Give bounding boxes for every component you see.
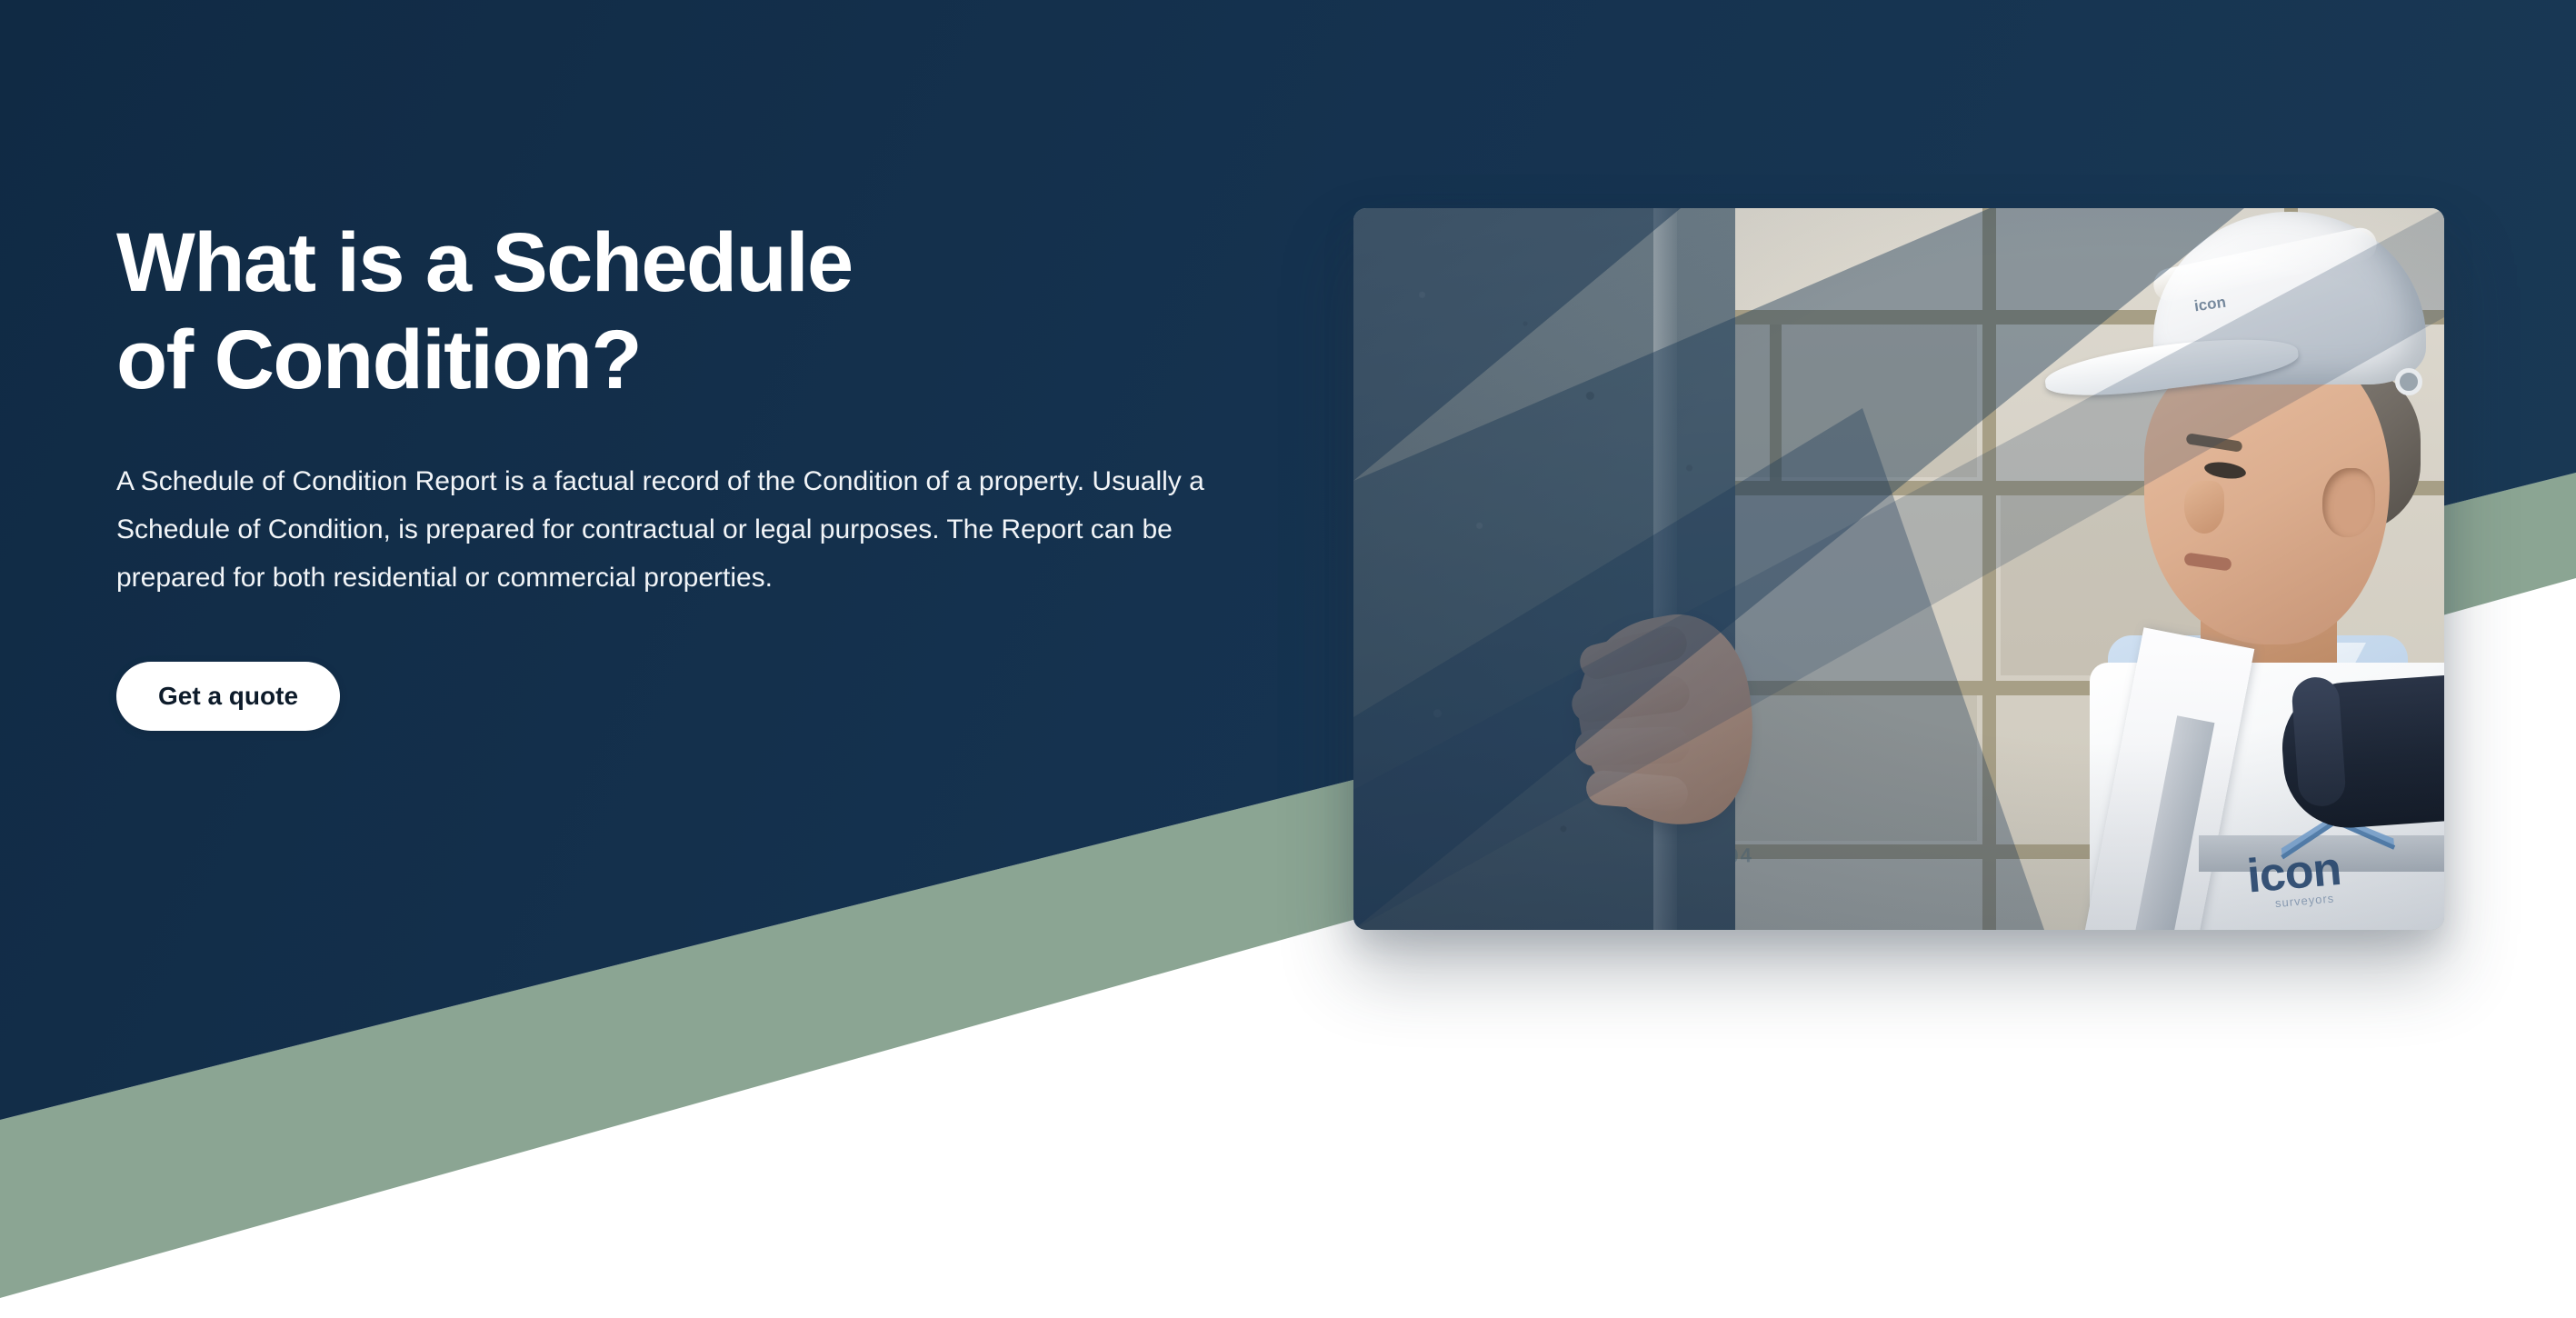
hero-section: What is a Schedule of Condition? A Sched… bbox=[0, 0, 2576, 1318]
page-title: What is a Schedule of Condition? bbox=[116, 215, 1234, 408]
get-a-quote-button[interactable]: Get a quote bbox=[116, 662, 340, 731]
hero-description: A Schedule of Condition Report is a fact… bbox=[116, 457, 1216, 602]
surveyor-photo: P30204 4.0 bbox=[1353, 208, 2444, 930]
photo-vignette bbox=[1353, 208, 2444, 930]
hero-copy-column: What is a Schedule of Condition? A Sched… bbox=[116, 215, 1234, 731]
hero-image-card: P30204 4.0 bbox=[1353, 208, 2444, 930]
